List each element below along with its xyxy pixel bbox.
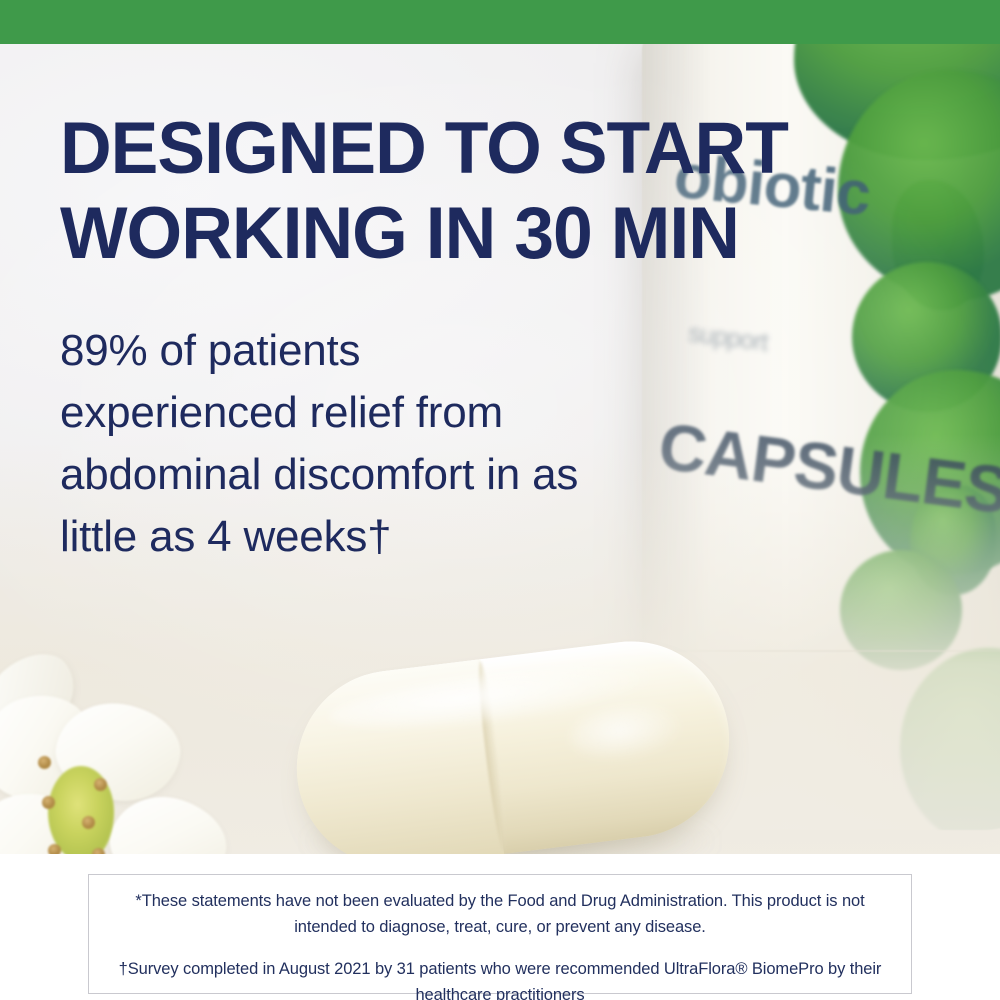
disclaimer-box: *These statements have not been evaluate… [88,874,912,994]
flower-stamen [42,796,55,809]
promo-page: obiotic support CAPSULES [0,0,1000,1000]
flower-stamen [38,756,51,769]
hero-headline: DESIGNED TO START WORKING IN 30 MIN [60,106,893,276]
survey-disclaimer-text: †Survey completed in August 2021 by 31 p… [115,956,885,1000]
flower-image [0,648,244,854]
hero-subcopy: 89% of patients experienced relief from … [60,276,910,568]
fda-disclaimer-text: *These statements have not been evaluate… [115,888,885,940]
hero-product-photo: obiotic support CAPSULES [0,44,1000,854]
flower-stamen [94,778,107,791]
flower-stamen [82,816,95,829]
footnote-region: *These statements have not been evaluate… [0,854,1000,1000]
flower-stamen [48,844,61,854]
top-accent-bar [0,0,1000,44]
hero-copy-block: DESIGNED TO START WORKING IN 30 MIN 89% … [60,106,910,568]
